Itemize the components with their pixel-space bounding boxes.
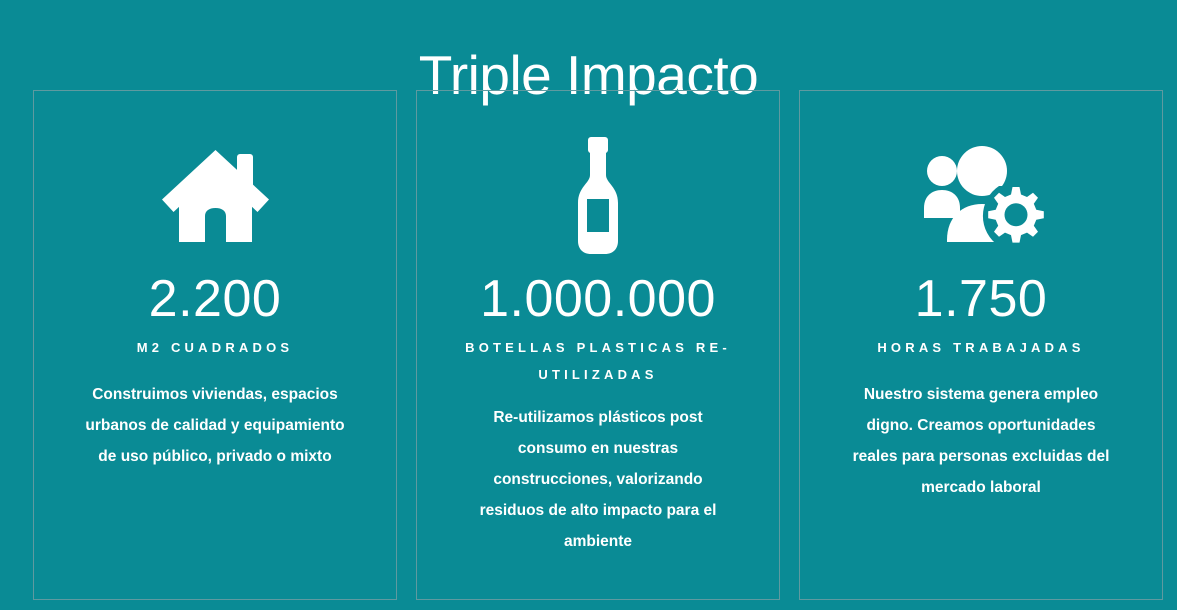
stat-number: 1.000.000 <box>480 270 716 328</box>
stat-description: Construimos viviendas, espacios urbanos … <box>76 379 354 472</box>
triple-impacto-section: Triple Impacto 2.200 M2 CUADRADOS C <box>0 0 1177 610</box>
house-icon <box>158 133 273 258</box>
stat-number: 1.750 <box>915 270 1048 328</box>
stat-label: HORAS TRABAJADAS <box>877 334 1084 361</box>
stat-card-m2-cuadrados: 2.200 M2 CUADRADOS Construimos viviendas… <box>33 90 397 600</box>
stat-card-botellas-plasticas: 1.000.000 BOTELLAS PLASTICAS RE-UTILIZAD… <box>416 90 780 600</box>
people-gear-icon <box>916 133 1046 258</box>
bottle-icon <box>565 133 631 258</box>
stat-description: Nuestro sistema genera empleo digno. Cre… <box>842 379 1120 503</box>
stat-label: BOTELLAS PLASTICAS RE-UTILIZADAS <box>448 334 748 388</box>
stat-card-horas-trabajadas: 1.750 HORAS TRABAJADAS Nuestro sistema g… <box>799 90 1163 600</box>
stat-number: 2.200 <box>149 270 282 328</box>
stat-cards-row: 2.200 M2 CUADRADOS Construimos viviendas… <box>33 90 1163 600</box>
stat-description: Re-utilizamos plásticos post consumo en … <box>459 402 737 557</box>
stat-label: M2 CUADRADOS <box>137 334 294 361</box>
